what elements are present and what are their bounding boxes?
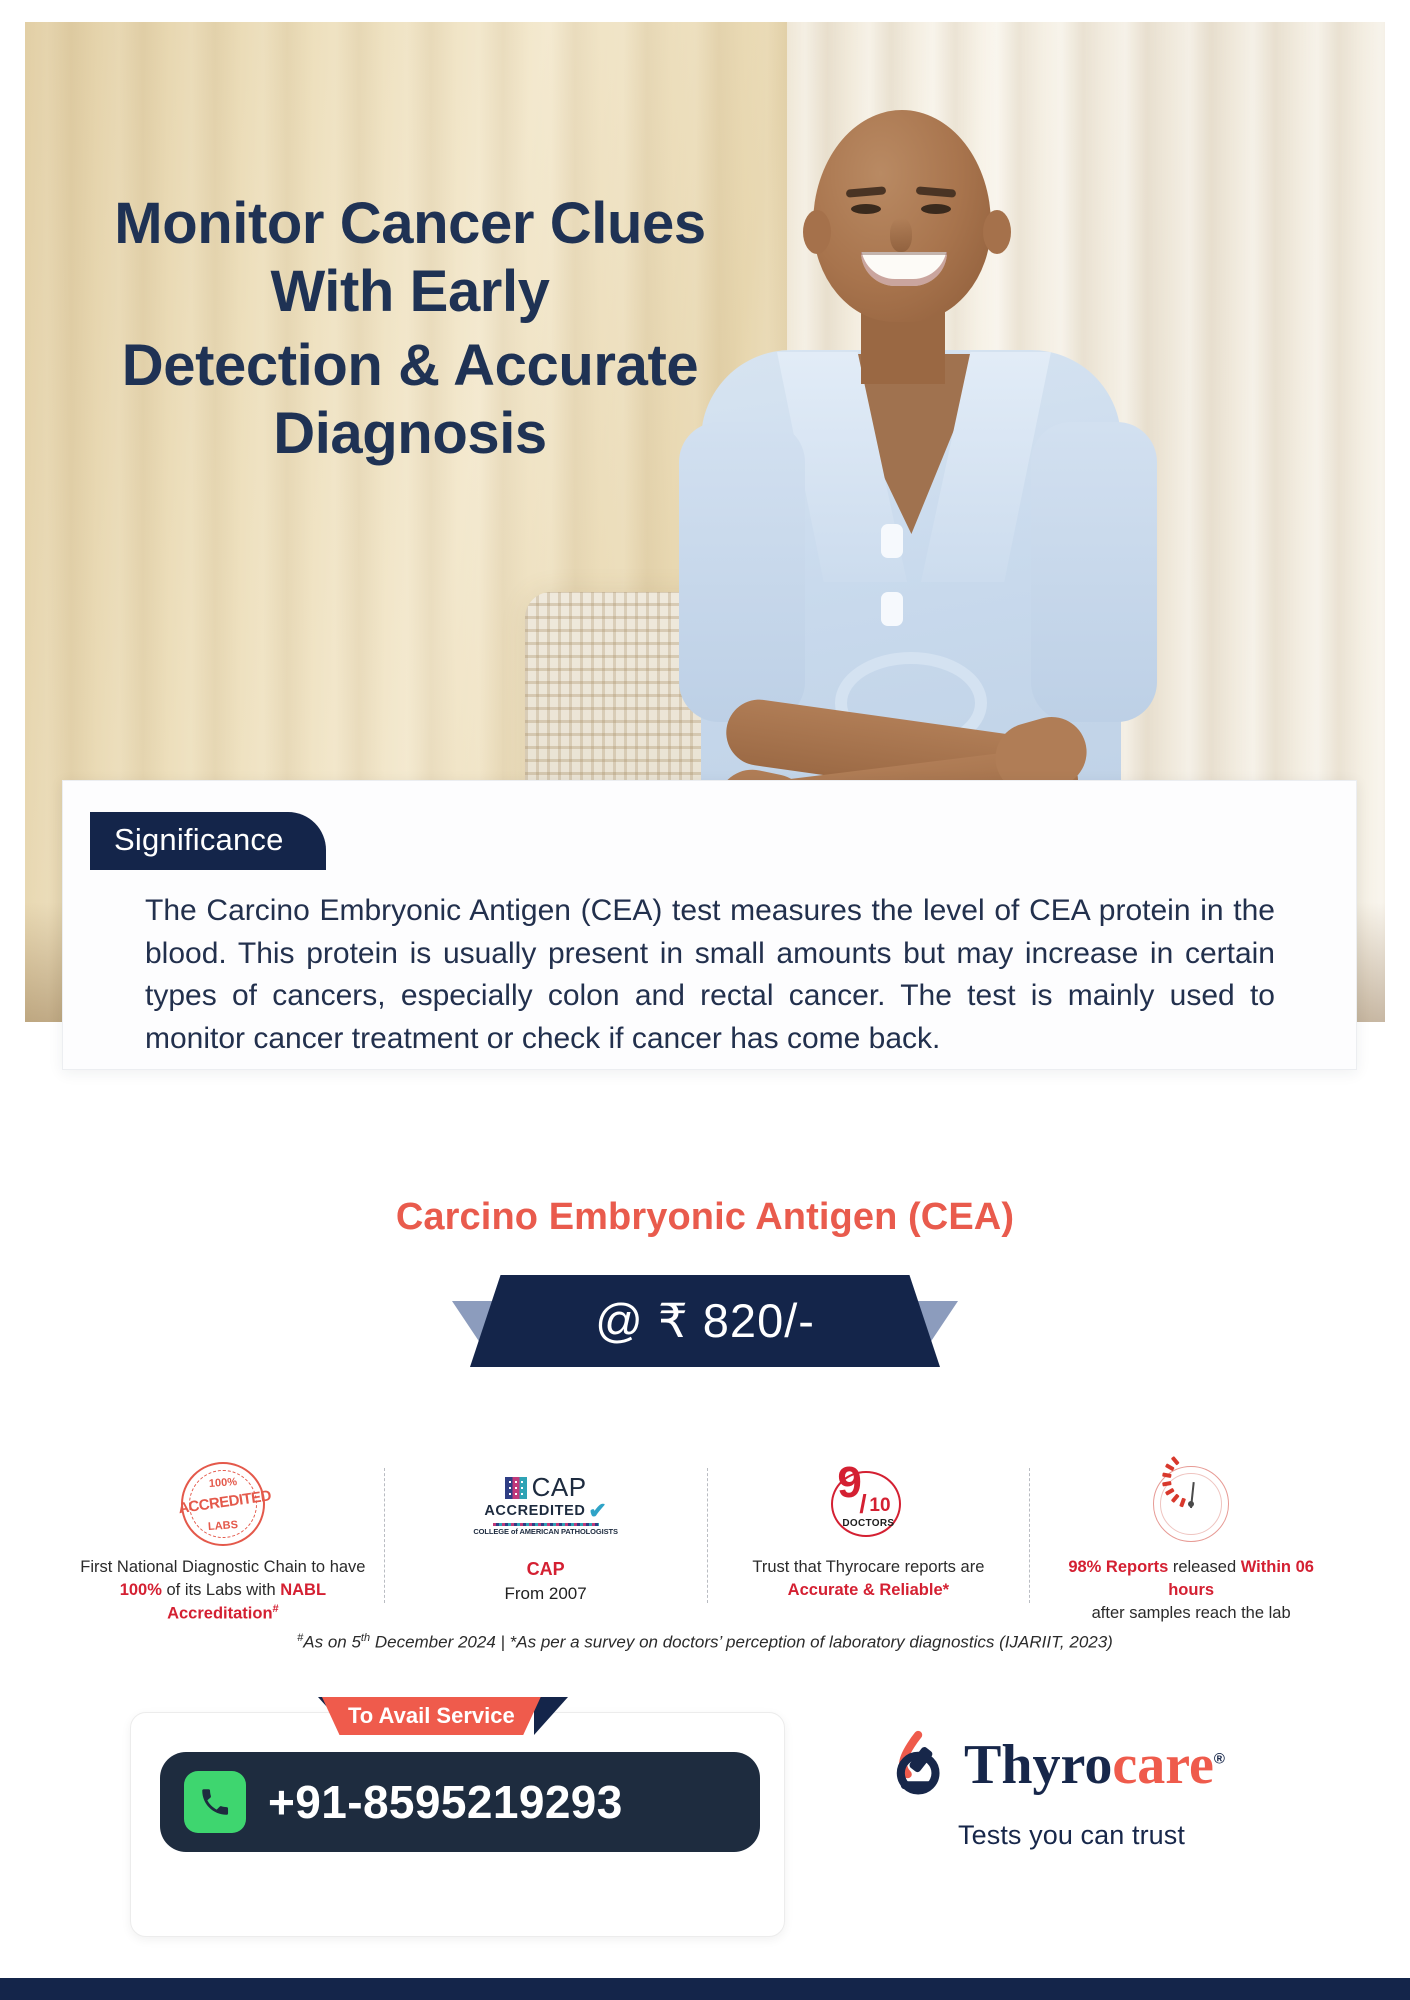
badge-turnaround-text: 98% Reports released Within 06 hours aft… [1044, 1556, 1338, 1624]
turnaround-text-1: released [1168, 1558, 1240, 1576]
doctors-label: DOCTORS [829, 1518, 907, 1529]
gauge-tick [1171, 1456, 1180, 1465]
badge-nabl-accreditation: 100% ACCREDITED LABS First National Diag… [62, 1462, 384, 1625]
doctors-slash: / [859, 1489, 866, 1520]
footnote-sup-2: th [361, 1632, 370, 1644]
headline-line-4: Diagnosis [60, 400, 760, 468]
doctors-nine: 9 [837, 1461, 861, 1505]
headline-line-3: Detection & Accurate [60, 332, 760, 400]
gauge-shape [1153, 1466, 1229, 1542]
footnote-text-1: As on 5 [303, 1633, 361, 1652]
nabl-text-2: of its Labs with [162, 1581, 280, 1599]
phone-number: +91-8595219293 [268, 1775, 623, 1829]
price-ribbon: @ ₹ 820/- [0, 1275, 1410, 1367]
significance-body-text: The Carcino Embryonic Antigen (CEA) test… [145, 890, 1275, 1060]
nabl-sup: # [273, 1603, 279, 1615]
phone-icon [184, 1771, 246, 1833]
badge-doctors-text: Trust that Thyrocare reports are Accurat… [722, 1556, 1016, 1602]
doctors-highlight-1: Accurate & Reliable* [788, 1581, 949, 1599]
patient-nose [890, 218, 912, 252]
nine-of-ten-doctors-icon: 9 / 10 DOCTORS [829, 1462, 907, 1546]
speed-gauge-icon [1153, 1462, 1229, 1546]
price-value: @ ₹ 820/- [470, 1275, 940, 1367]
stamp-mid-text: ACCREDITED [177, 1488, 268, 1517]
logo-word-part2: care [1112, 1734, 1214, 1796]
gown-button [881, 524, 903, 558]
footnote-text-2: December 2024 | *As per a survey on doct… [370, 1633, 1113, 1652]
headline-line-2: With Early [60, 258, 760, 326]
badge-report-turnaround: 98% Reports released Within 06 hours aft… [1030, 1462, 1352, 1624]
registered-mark: ® [1214, 1750, 1225, 1767]
trust-badges: 100% ACCREDITED LABS First National Diag… [62, 1462, 1352, 1625]
badge-doctors-trust: 9 / 10 DOCTORS Trust that Thyrocare repo… [708, 1462, 1030, 1602]
cap-logo-row-mid: ACCREDITED ✔ [484, 1500, 607, 1522]
patient-eye-right [921, 204, 951, 214]
cap-label-red: CAP [505, 1556, 587, 1582]
cap-grid-icon [505, 1477, 527, 1499]
nabl-highlight-1: 100% [120, 1581, 162, 1599]
cap-accredited-word: ACCREDITED [484, 1503, 585, 1519]
doctors-badge-shape: 9 / 10 DOCTORS [829, 1465, 907, 1543]
patient-head [813, 110, 991, 322]
significance-tab: Significance [90, 812, 326, 870]
brand-tagline: Tests you can trust [958, 1820, 1300, 1851]
stamp-bottom-text: LABS [183, 1517, 264, 1535]
cap-logo-row-top: CAP [505, 1472, 587, 1503]
test-name: Carcino Embryonic Antigen (CEA) [0, 1196, 1410, 1239]
logo-row: Thyrocare® [880, 1728, 1300, 1802]
hero-headline: Monitor Cancer Clues With Early Detectio… [60, 190, 760, 467]
patient-ear-right [983, 210, 1011, 254]
gown-sleeve-right [1031, 422, 1157, 722]
headline-line-1: Monitor Cancer Clues [60, 190, 760, 258]
logo-wordmark: Thyrocare® [964, 1737, 1225, 1793]
doctors-text-1: Trust that Thyrocare reports are [752, 1558, 984, 1576]
turnaround-text-2: after samples reach the lab [1092, 1604, 1291, 1622]
cap-word: CAP [532, 1472, 587, 1503]
stamp-shape: 100% ACCREDITED LABS [181, 1462, 265, 1546]
stamp-top-text: 100% [183, 1474, 264, 1492]
badge-cap-accredited: CAP ACCREDITED ✔ COLLEGE of AMERICAN PAT… [385, 1462, 707, 1607]
gauge-tick [1165, 1463, 1175, 1471]
patient-ear-left [803, 210, 831, 254]
cap-label-sub: From 2007 [505, 1582, 587, 1607]
accredited-stamp-icon: 100% ACCREDITED LABS [181, 1462, 265, 1546]
badge-cap-text: CAP From 2007 [505, 1556, 587, 1607]
cap-full-name: COLLEGE of AMERICAN PATHOLOGISTS [473, 1527, 618, 1536]
logo-word-part1: Thyro [964, 1734, 1112, 1796]
checkmark-icon: ✔ [588, 1500, 606, 1522]
avail-service-ribbon: To Avail Service [322, 1697, 541, 1735]
bottom-bar [0, 1978, 1410, 2000]
cap-accredited-icon: CAP ACCREDITED ✔ COLLEGE of AMERICAN PAT… [473, 1462, 618, 1546]
cap-logo: CAP ACCREDITED ✔ COLLEGE of AMERICAN PAT… [473, 1472, 618, 1536]
doctors-ten: 10 [869, 1495, 890, 1517]
badge-nabl-text: First National Diagnostic Chain to have … [76, 1556, 370, 1625]
cap-rule [493, 1523, 599, 1526]
gown-button [881, 592, 903, 626]
nabl-text-1: First National Diagnostic Chain to have [80, 1558, 365, 1576]
patient-eye-left [851, 204, 881, 214]
footnote: #As on 5th December 2024 | *As per a sur… [0, 1632, 1410, 1653]
turnaround-highlight-1: 98% Reports [1068, 1558, 1168, 1576]
microscope-droplet-logo-icon [880, 1728, 954, 1802]
phone-cta-button[interactable]: +91-8595219293 [160, 1752, 760, 1852]
brand-logo: Thyrocare® Tests you can trust [880, 1728, 1300, 1851]
